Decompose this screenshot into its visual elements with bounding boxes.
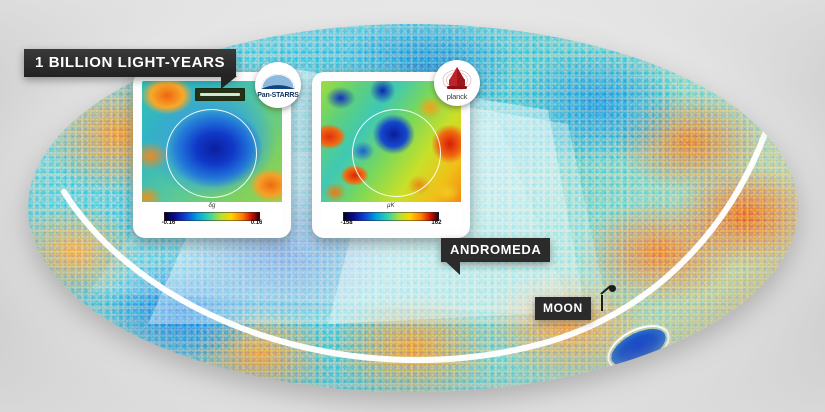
pan-starrs-colorbar-min: -0.16 [162,220,176,226]
moon-leader-line-vertical [601,295,603,311]
planck-logo[interactable]: planck [434,60,480,106]
pan-starrs-colorbar-area: δg -0.16 0.16 [142,202,282,229]
pan-starrs-circle-overlay [166,109,258,198]
panstarrs-dome-icon [259,72,297,92]
planck-satellite-icon [441,65,473,93]
pan-starrs-colorbar-label: δg [142,203,282,209]
pan-starrs-panel-inner: δg -0.16 0.16 [142,81,282,229]
pan-starrs-scale-bar [195,88,245,100]
pan-starrs-colorbar [164,212,259,221]
pan-starrs-logo[interactable]: Pan-STARRS [255,62,301,108]
pan-starrs-colorbar-max: 0.16 [251,220,263,226]
planck-colorbar-area: μK -158 162 [321,202,461,229]
planck-colorbar-max: 162 [431,220,441,226]
planck-circle-overlay [352,109,441,197]
planck-colorbar-min: -158 [341,220,353,226]
planck-logo-text: planck [447,93,467,101]
moon-leader-dot [609,285,616,292]
scale-callout[interactable]: 1 BILLION LIGHT-YEARS [24,49,236,77]
scale-callout-label: 1 BILLION LIGHT-YEARS [35,54,225,71]
planck-colorbar [343,212,438,221]
moon-callout-label: MOON [543,301,583,315]
pan-starrs-logo-text: Pan-STARRS [257,92,298,99]
planck-colorbar-label: μK [321,203,461,209]
andromeda-callout-tail [445,261,460,275]
panel-planck[interactable]: μK -158 162 planck [312,72,470,238]
planck-panel-inner: μK -158 162 [321,81,461,229]
andromeda-callout[interactable]: ANDROMEDA [441,238,550,262]
andromeda-callout-label: ANDROMEDA [450,242,541,257]
scale-callout-tail [221,76,237,89]
panel-pan-starrs[interactable]: δg -0.16 0.16 Pan-STARRS [133,72,291,238]
moon-callout[interactable]: MOON [535,297,591,320]
figure-canvas: δg -0.16 0.16 Pan-STARRS μK -158 16 [0,0,825,412]
